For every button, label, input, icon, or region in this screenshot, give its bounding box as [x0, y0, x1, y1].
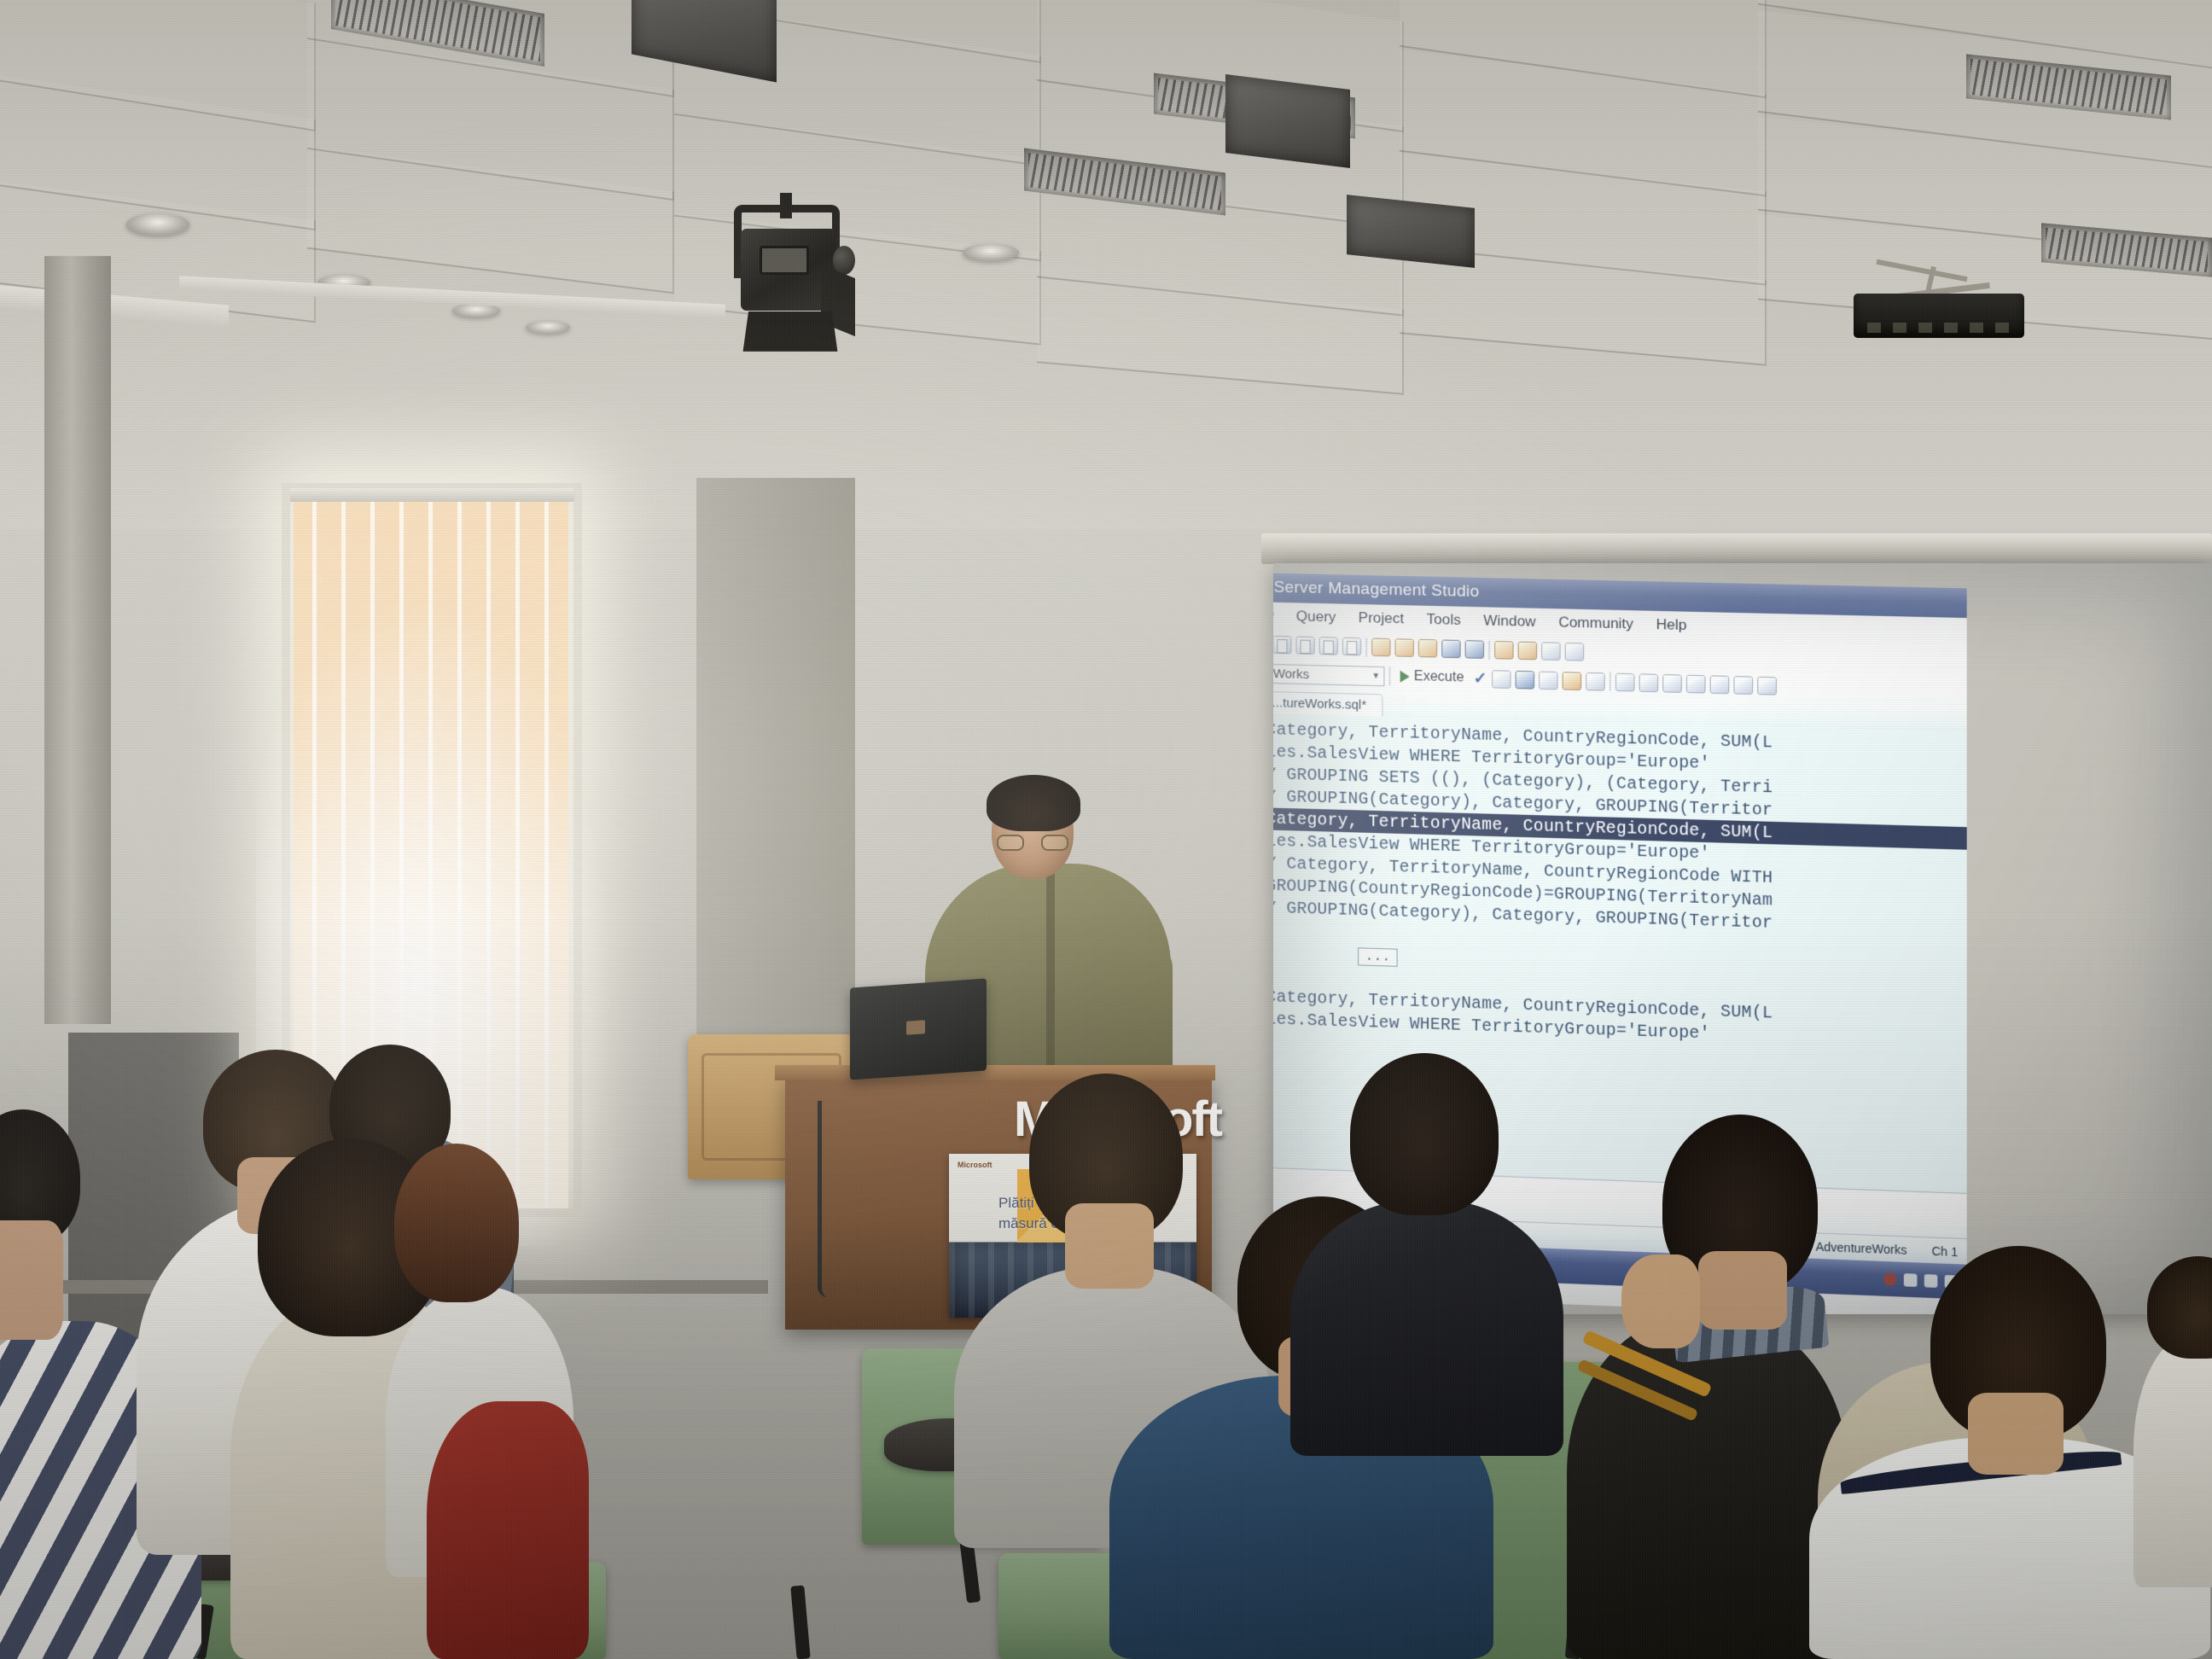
audience-neck: [1065, 1203, 1154, 1289]
status-position: Ch 1: [1932, 1243, 1959, 1259]
wall-column: [44, 256, 111, 1024]
poster-brand-mark: Microsoft: [958, 1161, 992, 1169]
parse-check-icon[interactable]: ✓: [1474, 668, 1487, 689]
menu-item-help[interactable]: Help: [1644, 614, 1698, 637]
presenter-hair: [987, 775, 1080, 831]
copy-icon[interactable]: [1541, 642, 1560, 661]
eyeglasses-icon: [997, 835, 1068, 852]
stop-icon[interactable]: [1492, 670, 1511, 689]
save-file-icon[interactable]: [1418, 639, 1437, 658]
open-solution-icon[interactable]: [1296, 637, 1315, 655]
audience-neck: [1968, 1393, 2064, 1475]
query-options-icon[interactable]: [1539, 671, 1557, 690]
toolbar-separator: [1610, 672, 1611, 691]
ceiling-downlight: [963, 244, 1019, 261]
execute-button[interactable]: Execute: [1395, 668, 1470, 685]
save-icon[interactable]: [1441, 640, 1460, 659]
audience-hair: [394, 1144, 519, 1302]
comment-icon[interactable]: [1686, 674, 1706, 693]
conference-room-photo: Microsoft SQL Server Management Studio F…: [0, 0, 2212, 1659]
audience-hair: [1350, 1053, 1499, 1215]
open-project-icon[interactable]: [1273, 636, 1291, 655]
podium-top-surface: [775, 1065, 1215, 1080]
audience-hand: [1621, 1254, 1700, 1348]
new-project-icon[interactable]: [1319, 637, 1338, 655]
network-icon[interactable]: [1924, 1274, 1938, 1288]
projector-body: [1854, 294, 2024, 338]
uncomment-icon[interactable]: [1709, 675, 1729, 694]
projection-screen-rail: [1261, 533, 2212, 564]
red-jacket: [427, 1401, 589, 1659]
database-selector[interactable]: AdventureWorks ▼: [1273, 662, 1384, 686]
print-icon[interactable]: [1494, 641, 1513, 660]
menu-item-query[interactable]: Query: [1285, 606, 1348, 628]
increase-indent-icon[interactable]: [1757, 676, 1777, 695]
ceiling-recess: [1225, 74, 1350, 168]
results-to-text-icon[interactable]: [1615, 672, 1635, 691]
window-title: Microsoft SQL Server Management Studio: [1273, 571, 1480, 607]
document-tab[interactable]: RAZVAM\...\Gro...tureWorks.sql*: [1273, 689, 1382, 716]
collapsed-region-ellipsis[interactable]: ...: [1359, 947, 1398, 967]
audience-torso: [1290, 1200, 1563, 1456]
record-icon[interactable]: [1883, 1272, 1897, 1286]
ceiling-projector: [1854, 271, 2024, 340]
audience-torso: [1567, 1314, 1848, 1659]
menu-item-project[interactable]: Project: [1348, 608, 1416, 630]
results-to-file-icon[interactable]: [1662, 674, 1682, 693]
toolbar-separator: [1388, 667, 1390, 685]
open-query-icon[interactable]: [1342, 637, 1361, 656]
hp-logo-icon: [906, 1020, 925, 1035]
results-to-grid-icon[interactable]: [1639, 673, 1658, 692]
menu-item-view[interactable]: View: [1273, 605, 1285, 627]
save-disk-icon[interactable]: [1465, 640, 1484, 659]
display-estimated-plan-icon[interactable]: [1515, 670, 1534, 689]
paste-icon[interactable]: [1565, 643, 1584, 661]
stage-light: [727, 205, 847, 341]
toolbar-separator: [1488, 640, 1490, 659]
decrease-indent-icon[interactable]: [1733, 676, 1753, 695]
audience-neck: [0, 1220, 63, 1340]
cut-icon[interactable]: [1518, 642, 1537, 661]
toolbar-separator: [1365, 637, 1367, 656]
volume-icon[interactable]: [1904, 1273, 1918, 1287]
client-statistics-icon[interactable]: [1586, 672, 1604, 690]
save-all-icon[interactable]: [1395, 638, 1414, 657]
execute-icon: [1400, 671, 1410, 683]
ceiling-downlight: [526, 321, 570, 334]
include-actual-plan-icon[interactable]: [1562, 672, 1580, 690]
menu-item-tools[interactable]: Tools: [1415, 609, 1472, 632]
menu-item-window[interactable]: Window: [1472, 610, 1547, 632]
ceiling-downlight: [126, 213, 189, 236]
chevron-down-icon[interactable]: ▼: [1371, 671, 1380, 680]
stage-light-lens: [760, 246, 809, 275]
audience-neck: [1698, 1251, 1787, 1330]
presenter-shirt-placket: [1046, 870, 1055, 1092]
database-selector-value: AdventureWorks: [1273, 665, 1309, 682]
stage-light-barndoor-bottom: [743, 311, 838, 352]
execute-label: Execute: [1414, 669, 1464, 686]
open-folder-icon[interactable]: [1371, 638, 1390, 657]
menu-item-community[interactable]: Community: [1547, 612, 1644, 635]
status-database: AdventureWorks: [1816, 1239, 1907, 1256]
power-cable: [818, 1101, 828, 1297]
document-tab-label: RAZVAM\...\Gro...tureWorks.sql*: [1273, 693, 1366, 713]
